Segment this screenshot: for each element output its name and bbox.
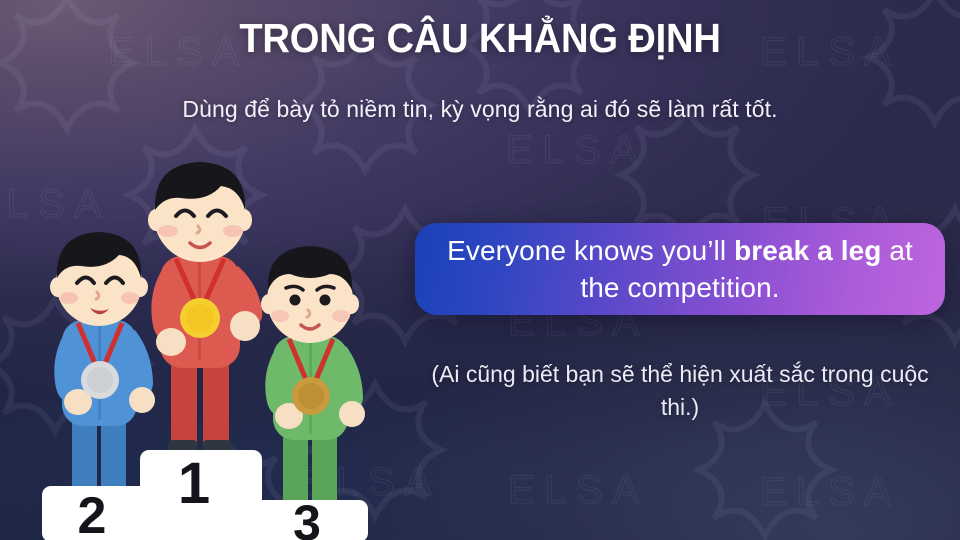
page-subtitle: Dùng để bày tỏ niềm tin, kỳ vọng rằng ai… (0, 96, 960, 123)
page-title: TRONG CÂU KHẲNG ĐỊNH (34, 16, 927, 60)
example-text-before: Everyone knows you’ll (447, 235, 734, 266)
slide-canvas: ELSA ELSA ELSA ELSA ELSA ELSA ELSA ELSA … (0, 0, 960, 540)
athlete-third-place (261, 246, 365, 522)
podium-number-third: 3 (293, 495, 321, 540)
podium-number-second: 2 (78, 487, 107, 540)
example-sentence-card: Everyone knows you’ll break a leg at the… (415, 223, 945, 315)
podium-number-first: 1 (178, 451, 210, 516)
podium-illustration: 1 2 3 (0, 128, 410, 540)
translation-text: (Ai cũng biết bạn sẽ thể hiện xuất sắc t… (415, 358, 945, 425)
example-sentence-text: Everyone knows you’ll break a leg at the… (437, 232, 923, 306)
athlete-second-place (50, 232, 155, 506)
idiom-highlight: break a leg (734, 235, 881, 266)
athlete-first-place (148, 162, 262, 454)
